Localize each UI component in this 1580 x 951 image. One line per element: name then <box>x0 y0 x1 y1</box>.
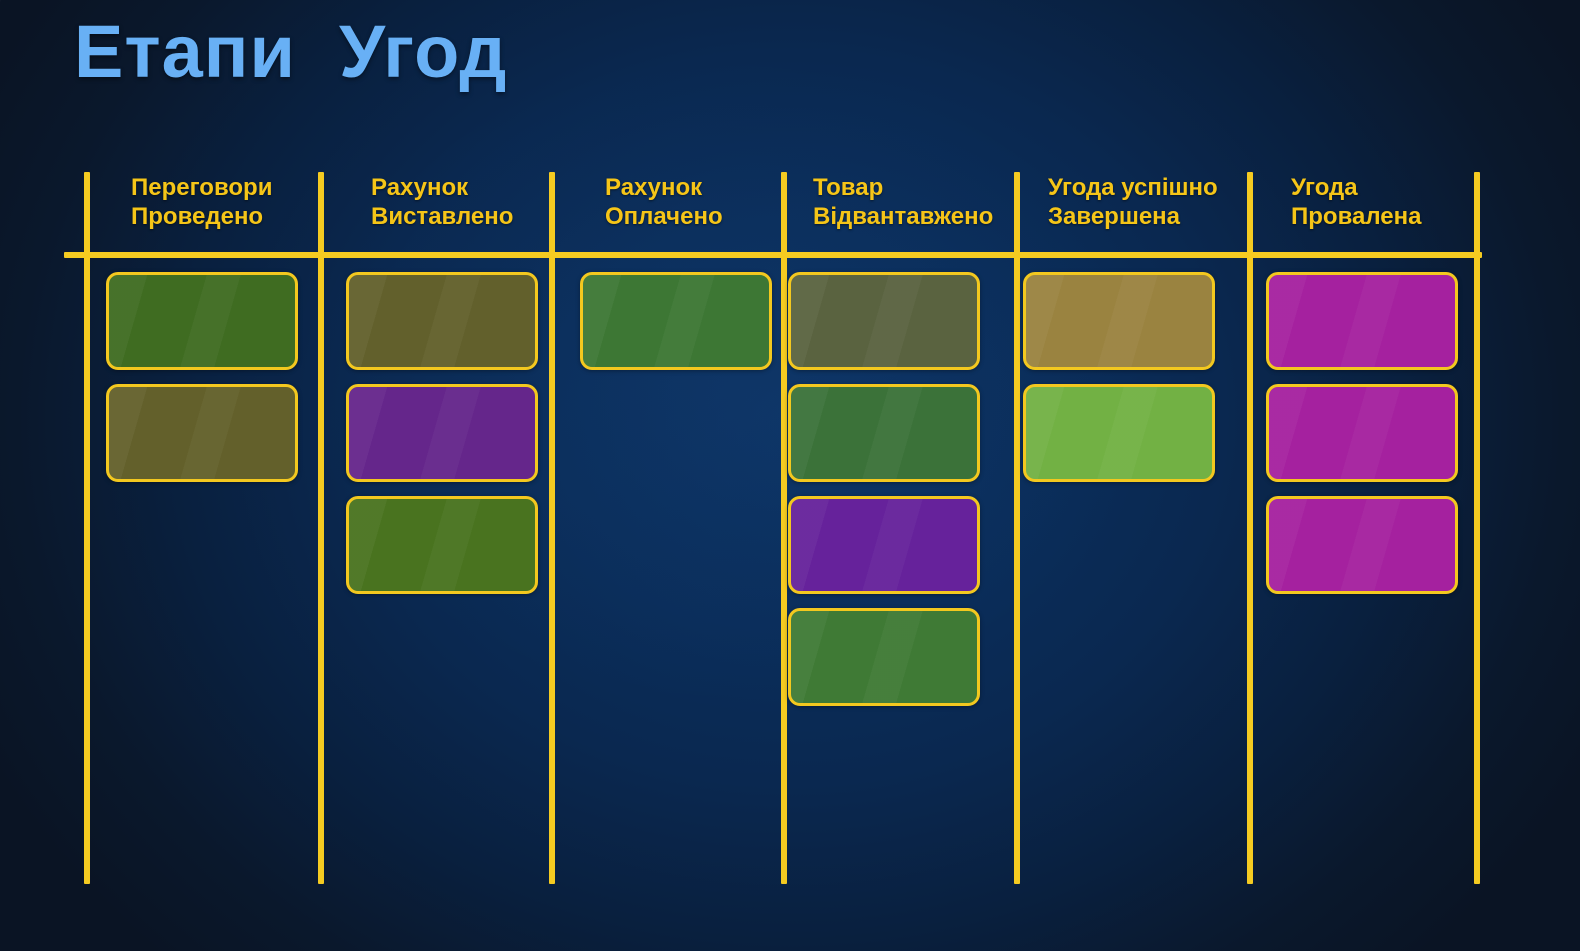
column-header-deal-won: Угода успішно Завершена <box>1048 174 1218 232</box>
deal-card[interactable] <box>788 496 980 594</box>
header-separator-line <box>64 252 1482 258</box>
deal-card[interactable] <box>106 384 298 482</box>
column-cards-negotiations-done <box>106 272 298 482</box>
column-divider-invoice-issued <box>318 172 324 884</box>
column-header-invoice-paid: Рахунок Оплачено <box>605 174 723 232</box>
deal-card[interactable] <box>788 272 980 370</box>
kanban-board: Переговори ПроведеноРахунок ВиставленоРа… <box>0 0 1580 951</box>
column-header-negotiations-done: Переговори Проведено <box>131 174 272 232</box>
column-divider-negotiations-done <box>84 172 90 884</box>
deal-card[interactable] <box>346 384 538 482</box>
column-cards-deal-lost <box>1266 272 1458 594</box>
column-divider-goods-shipped <box>781 172 787 884</box>
deal-card[interactable] <box>788 384 980 482</box>
deal-card[interactable] <box>346 496 538 594</box>
deal-card[interactable] <box>788 608 980 706</box>
deal-card[interactable] <box>1023 272 1215 370</box>
column-header-goods-shipped: Товар Відвантавжено <box>813 174 993 232</box>
deal-card[interactable] <box>1266 496 1458 594</box>
column-divider-invoice-paid <box>549 172 555 884</box>
column-header-invoice-issued: Рахунок Виставлено <box>371 174 513 232</box>
column-cards-goods-shipped <box>788 272 980 706</box>
column-cards-invoice-issued <box>346 272 538 594</box>
slide-canvas: Етапи Угод Переговори ПроведеноРахунок В… <box>0 0 1580 951</box>
deal-card[interactable] <box>580 272 772 370</box>
deal-card[interactable] <box>346 272 538 370</box>
column-cards-invoice-paid <box>580 272 772 370</box>
column-divider-deal-won <box>1014 172 1020 884</box>
board-right-edge-divider <box>1474 172 1480 884</box>
column-divider-deal-lost <box>1247 172 1253 884</box>
column-header-deal-lost: Угода Провалена <box>1291 174 1421 232</box>
column-cards-deal-won <box>1023 272 1215 482</box>
deal-card[interactable] <box>106 272 298 370</box>
deal-card[interactable] <box>1266 384 1458 482</box>
deal-card[interactable] <box>1266 272 1458 370</box>
deal-card[interactable] <box>1023 384 1215 482</box>
